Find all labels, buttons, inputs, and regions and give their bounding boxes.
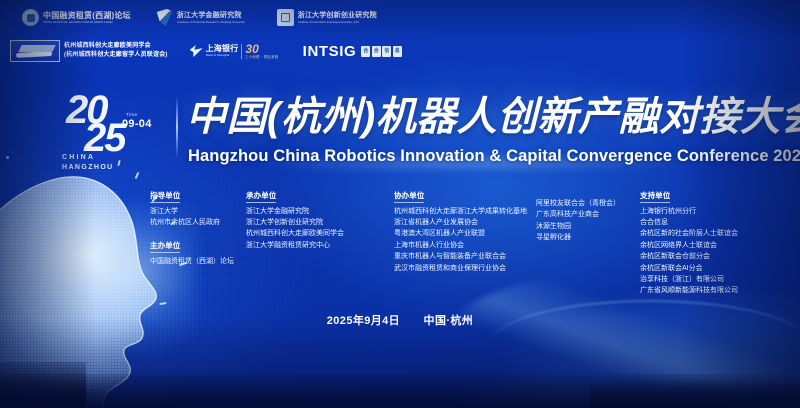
logo-intsig: INTSIG 合 合 信 息 — [303, 44, 402, 59]
org-item: 中国融资租赁（西湖）论坛 — [150, 256, 246, 267]
year-bottom: 25 — [84, 118, 125, 158]
logo-en-name: Institute of Innovation & Entrepreneursh… — [298, 20, 371, 25]
org-column-5: 支持单位 上海银行杭州分行 合合信息 余杭区新的社会阶层人士联谊会 余杭区网络界… — [640, 185, 790, 304]
logo-divider — [241, 44, 242, 59]
org-item: 阿里校友联合会（青橙会） — [536, 198, 640, 209]
sponsor-logo-row-1: 中国融资租赁(西湖)论坛 CHINA FINANCIAL LEASING FOR… — [22, 9, 377, 26]
org-item: 杭州城西科创大走廊浙江大学成果转化基地 — [394, 206, 536, 217]
time-value: 09-04 — [122, 118, 152, 130]
sponsor-logo-bar: 中国融资租赁(西湖)论坛 CHINA FINANCIAL LEASING FOR… — [0, 0, 800, 74]
intsig-wordmark: INTSIG — [303, 44, 357, 59]
org-item: 上海市机器人行业协会 — [394, 240, 536, 251]
logo-en-name: Bank of Shanghai — [206, 53, 236, 58]
org-group-heading: 承办单位 — [246, 190, 276, 203]
org-item: 浙江大学 — [150, 206, 246, 217]
org-group-heading: 主办单位 — [150, 240, 180, 253]
sponsor-logo-row-2: 杭州城西科创大走廊欧美同学会 (杭州城西科创大走廊留学人员联谊会) 上海银行 B… — [10, 40, 402, 62]
intsig-cn-blocks: 合 合 信 息 — [361, 46, 402, 57]
city-line-china: CHINA — [62, 154, 95, 161]
year-logo-2025: 20 25 Time 09-04 CHINA HANGZHOU — [62, 88, 172, 176]
org-group: 承办单位 浙江大学金融研究院 浙江大学创新创业研究院 杭州城西科创大走廊欧美同学… — [246, 185, 394, 251]
stage-floor-right-shadow — [590, 382, 800, 408]
org-item: 上海银行杭州分行 — [640, 206, 790, 217]
org-group: 指导单位 浙江大学 杭州市余杭区人民政府 — [150, 185, 246, 228]
org-item: 余杭区网络界人士联谊会 — [640, 240, 790, 251]
swallow-icon — [190, 45, 203, 57]
logo-bank-of-shanghai: 上海银行 Bank of Shanghai 30 三十而砺 · 再赴新程 — [190, 43, 281, 60]
square-frame-icon — [277, 9, 294, 26]
logo-cn-name: 浙江大学金融研究院 — [177, 11, 251, 20]
conference-backdrop: 中国融资租赁(西湖)论坛 CHINA FINANCIAL LEASING FOR… — [0, 0, 800, 408]
org-item: 合合信息 — [640, 217, 790, 228]
logo-china-financial-leasing-forum: 中国融资租赁(西湖)论坛 CHINA FINANCIAL LEASING FOR… — [22, 9, 131, 26]
page-title: 中国(杭州)机器人创新产融对接大会 — [186, 94, 800, 140]
date-location-line: 2025年9月4日 中国·杭州 — [0, 312, 800, 328]
time-label: Time — [126, 112, 137, 117]
org-column-4: 阿里校友联合会（青橙会） 广东高科技产业商会 沐源生物园 寻星孵化器 — [536, 185, 640, 304]
logo-zju-academy-of-financial-research: 浙江大学金融研究院 Academy of Financial Research,… — [157, 9, 251, 26]
org-item: 杭州市余杭区人民政府 — [150, 217, 246, 228]
org-group-heading: 协办单位 — [394, 190, 424, 203]
logo-cn-name: 杭州城西科创大走廊欧美同学会 — [64, 42, 168, 51]
org-item: 浙江省机器人产业发展协会 — [394, 217, 536, 228]
org-group-heading: 指导单位 — [150, 190, 180, 203]
org-item: 广东高科技产业商会 — [536, 209, 640, 220]
org-item: 寻星孵化器 — [536, 232, 640, 243]
org-group: 阿里校友联合会（青橙会） 广东高科技产业商会 沐源生物园 寻星孵化器 — [536, 185, 640, 244]
logo-zju-innovation-entrepreneurship-institute: 浙江大学创新创业研究院 Institute of Innovation & En… — [277, 9, 377, 26]
org-item: 广东省风顺新能源科技有限公司 — [640, 285, 790, 296]
logo-cn-name: 中国融资租赁(西湖)论坛 — [43, 11, 131, 20]
org-item: 浙江大学融资租赁研究中心 — [246, 240, 394, 251]
event-date: 2025年9月4日 — [327, 315, 400, 327]
page-subtitle: Hangzhou China Robotics Innovation & Cap… — [188, 146, 800, 166]
intsig-cn-char: 合 — [361, 46, 370, 57]
organizations-block: 指导单位 浙江大学 杭州市余杭区人民政府 主办单位 中国融资租赁（西湖）论坛 承… — [150, 185, 790, 304]
org-item: 余杭区新联会AI分会 — [640, 263, 790, 274]
intsig-cn-char: 信 — [382, 46, 391, 57]
org-column-2: 承办单位 浙江大学金融研究院 浙江大学创新创业研究院 杭州城西科创大走廊欧美同学… — [246, 185, 394, 304]
org-item: 粤港澳大湾区机器人产业联盟 — [394, 228, 536, 239]
org-group: 支持单位 上海银行杭州分行 合合信息 余杭区新的社会阶层人士联谊会 余杭区网络界… — [640, 185, 790, 297]
org-item: 治享科技（浙江）有限公司 — [640, 274, 790, 285]
org-group: 主办单位 中国融资租赁（西湖）论坛 — [150, 235, 246, 267]
intsig-cn-char: 息 — [393, 46, 402, 57]
org-group-heading: 支持单位 — [640, 190, 670, 203]
logo-cn-name: 浙江大学创新创业研究院 — [298, 11, 377, 20]
city-line-hangzhou: HANGZHOU — [62, 164, 114, 171]
logo-en-name: Academy of Financial Research, Zhejiang … — [177, 20, 245, 25]
anniversary-slogan: 三十而砺 · 再赴新程 — [245, 55, 278, 60]
logo-cn-name: 上海银行 — [206, 44, 239, 53]
org-column-1: 指导单位 浙江大学 杭州市余杭区人民政府 主办单位 中国融资租赁（西湖）论坛 — [150, 185, 246, 304]
org-item: 武汉市融资租赁和商业保理行业协会 — [394, 263, 536, 274]
event-location: 中国·杭州 — [424, 315, 474, 327]
org-item: 杭州城西科创大走廊欧美同学会 — [246, 228, 394, 239]
org-group: 协办单位 杭州城西科创大走廊浙江大学成果转化基地 浙江省机器人产业发展协会 粤港… — [394, 185, 536, 274]
org-column-3: 协办单位 杭州城西科创大走廊浙江大学成果转化基地 浙江省机器人产业发展协会 粤港… — [394, 185, 536, 304]
hand-circle-icon — [22, 9, 39, 26]
org-item: 余杭区新联会仓前分会 — [640, 251, 790, 262]
intsig-cn-char: 合 — [372, 46, 381, 57]
org-item: 重庆市机器人与智能装备产业联合会 — [394, 251, 536, 262]
logo-hangzhou-west-overseas-scholars-association: 杭州城西科创大走廊欧美同学会 (杭州城西科创大走廊留学人员联谊会) — [10, 40, 168, 62]
stage-floor-left-shadow — [0, 362, 86, 408]
org-item: 浙江大学创新创业研究院 — [246, 217, 394, 228]
spark-particle — [6, 156, 9, 159]
org-item: 沐源生物园 — [536, 221, 640, 232]
anniversary-number: 30 — [245, 43, 280, 55]
logo-cn-subname: (杭州城西科创大走廊留学人员联谊会) — [64, 51, 168, 60]
org-item: 浙江大学金融研究院 — [246, 206, 394, 217]
title-divider — [176, 96, 178, 158]
scanner-icon — [10, 40, 60, 62]
zju-swallow-icon — [157, 9, 173, 26]
logo-en-name: CHINA FINANCIAL LEASING FORUM (WEST LAKE… — [43, 20, 124, 25]
org-item: 余杭区新的社会阶层人士联谊会 — [640, 228, 790, 239]
